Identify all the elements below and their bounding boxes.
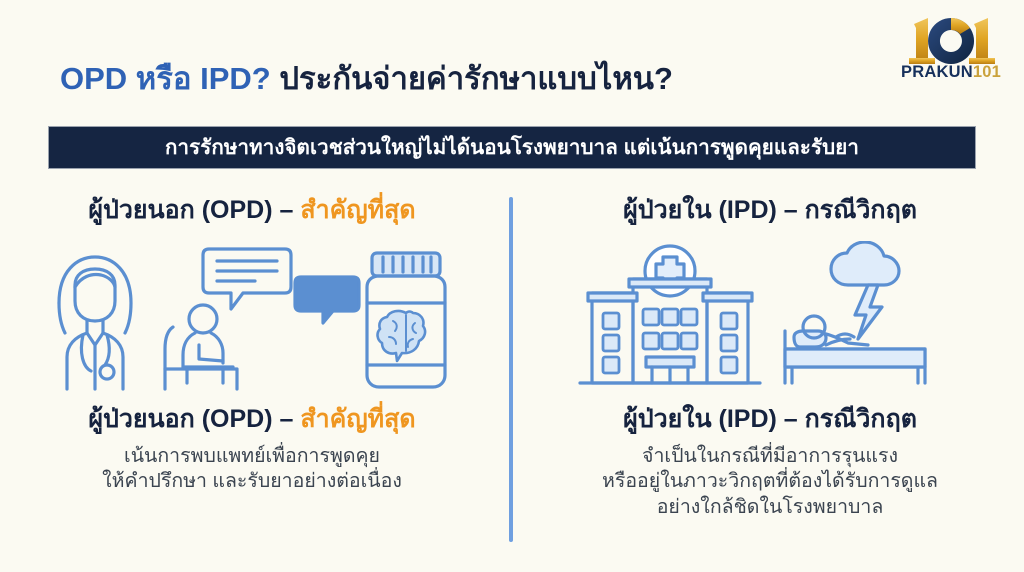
column-ipd-body-line-1: จำเป็นในกรณีที่มีอาการรุนแรง (540, 444, 1000, 470)
subtitle-banner-text: การรักษาทางจิตเวชส่วนใหญ่ไม่ได้นอนโรงพยา… (165, 131, 859, 164)
column-opd-heading-main: ผู้ป่วยนอก (OPD) – (88, 196, 300, 224)
doctor-icon (59, 257, 131, 389)
hospital-building-icon (580, 246, 760, 383)
patient-consultation-icon (165, 249, 359, 389)
column-ipd: ผู้ป่วยใน (IPD) – กรณีวิกฤต (540, 196, 1000, 521)
column-ipd-illustration (540, 241, 1000, 401)
column-opd-subheading-main: ผู้ป่วยนอก (OPD) – (88, 405, 300, 433)
medicine-bottle-brain-icon (367, 253, 445, 387)
column-opd-illustration (22, 241, 482, 401)
subtitle-banner: การรักษาทางจิตเวชส่วนใหญ่ไม่ได้นอนโรงพยา… (48, 126, 976, 169)
column-opd-body-line-1: เน้นการพบแพทย์เพื่อการพูดคุย (22, 444, 482, 470)
page-title-navy-segment: ประกันจ่ายค่ารักษาแบบไหน? (279, 61, 673, 96)
page-title: OPD หรือ IPD? ประกันจ่ายค่ารักษาแบบไหน? (60, 62, 673, 97)
column-opd-subheading-accent: สำคัญที่สุด (300, 405, 415, 433)
column-ipd-body-line-2: หรืออยู่ในภาวะวิกฤตที่ต้องได้รับการดูแล (540, 469, 1000, 495)
column-ipd-heading-main: ผู้ป่วยใน (IPD) – กรณีวิกฤต (623, 196, 917, 224)
column-opd: ผู้ป่วยนอก (OPD) – สำคัญที่สุด (22, 196, 482, 495)
patient-in-bed-storm-icon (785, 242, 925, 383)
column-ipd-subheading-main: ผู้ป่วยใน (IPD) – กรณีวิกฤต (623, 405, 917, 433)
column-opd-heading-accent: สำคัญที่สุด (300, 196, 415, 224)
column-ipd-heading: ผู้ป่วยใน (IPD) – กรณีวิกฤต (540, 196, 1000, 225)
column-ipd-body-line-3: อย่างใกล้ชิดในโรงพยาบาล (540, 495, 1000, 521)
column-opd-body: เน้นการพบแพทย์เพื่อการพูดคุย ให้คำปรึกษา… (22, 444, 482, 495)
logo-wordmark: PRAKUN101 (892, 64, 1010, 81)
infographic-canvas: PRAKUN101 OPD หรือ IPD? ประกันจ่ายค่ารัก… (0, 0, 1024, 572)
logo-101-mark (892, 14, 1010, 66)
column-divider (509, 197, 513, 542)
column-opd-subheading: ผู้ป่วยนอก (OPD) – สำคัญที่สุด (22, 405, 482, 434)
brand-logo: PRAKUN101 (892, 14, 1010, 98)
column-ipd-subheading: ผู้ป่วยใน (IPD) – กรณีวิกฤต (540, 405, 1000, 434)
column-opd-body-line-2: ให้คำปรึกษา และรับยาอย่างต่อเนื่อง (22, 469, 482, 495)
column-ipd-body: จำเป็นในกรณีที่มีอาการรุนแรง หรืออยู่ในภ… (540, 444, 1000, 521)
column-opd-heading: ผู้ป่วยนอก (OPD) – สำคัญที่สุด (22, 196, 482, 225)
logo-101-icon (892, 14, 1010, 66)
page-title-blue-segment: OPD หรือ IPD? (60, 61, 271, 96)
